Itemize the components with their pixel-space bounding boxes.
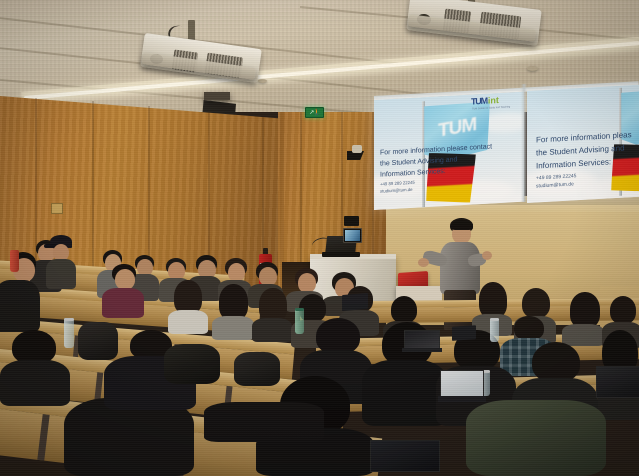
red-bottle [10, 250, 19, 272]
tum-int-logo: TUM int [471, 96, 499, 107]
audience-member-foreground [0, 330, 70, 406]
smoke-detector-icon [527, 66, 538, 71]
lecture-hall-photo: ↗🚶 TUM TUM int TUM Center for Study and … [0, 0, 639, 476]
water-bottle-green [295, 308, 304, 334]
tablet-device [452, 325, 476, 341]
projection-screen-right: For more information pleas the Student A… [527, 85, 639, 203]
tablet-device [342, 293, 368, 311]
audience-member [0, 252, 44, 332]
laptop-stickers [596, 366, 639, 402]
audience-member-cap [44, 235, 78, 289]
exit-sign-icon: ↗🚶 [305, 107, 324, 118]
wood-panel-seam [92, 101, 94, 291]
backpack [164, 344, 220, 384]
logo-tum-mark: TUM [471, 97, 487, 107]
presenter-hand-left [418, 258, 429, 267]
wall-camera-icon [347, 145, 365, 161]
water-bottle [490, 318, 499, 342]
presenter-hand-right [482, 251, 492, 260]
audience-member-longhair [166, 280, 210, 334]
backpack [78, 322, 118, 360]
speaker-bracket [204, 92, 230, 100]
lectern-control-panel [344, 216, 359, 226]
projection-screen-left: TUM TUM int TUM Center for Study and Tea… [374, 92, 524, 210]
laptop-open [404, 330, 440, 352]
audience-member-longhair [250, 288, 294, 342]
backpack-olive [466, 400, 606, 476]
exit-sign-glyph: ↗🚶 [309, 110, 320, 116]
flag-tum-mark: TUM [438, 114, 476, 143]
screen-left-contact: +49 89 289 22245 studium@tum.de [380, 179, 415, 195]
projector-left [128, 20, 276, 90]
screen-right-contact: +49 89 289 22245 studium@tum.de [536, 172, 576, 190]
screen-left-text: For more information please contact the … [380, 141, 492, 180]
lectern-monitor [343, 228, 362, 243]
laptop-foreground [370, 440, 440, 476]
backpack [234, 352, 280, 386]
screen-right-text: For more information pleas the Student A… [536, 128, 632, 172]
laptop-open [440, 370, 484, 404]
water-bottle [64, 318, 74, 348]
lectern-laptop-base [322, 252, 360, 257]
audience-member-maroon [100, 264, 146, 318]
logo-int-suffix: int [488, 96, 499, 106]
projector-right [390, 0, 558, 58]
clothing-on-bench [204, 402, 324, 442]
wall-switch-plate [51, 203, 63, 214]
